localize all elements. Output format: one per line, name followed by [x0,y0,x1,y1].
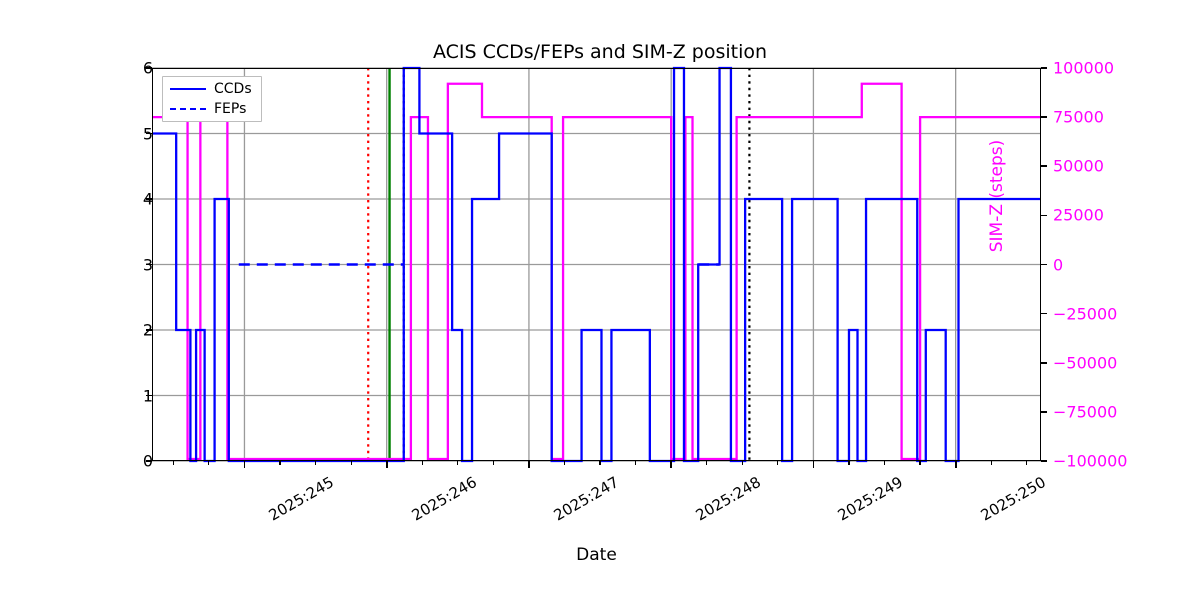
y-tick-right [1041,264,1047,266]
x-tick-minor [564,461,565,465]
y-tick-left [146,133,152,135]
x-tick-minor [279,461,280,465]
x-tick-minor [848,461,849,465]
y-tick-left [146,460,152,462]
x-tick-minor [742,461,743,465]
x-tick-minor [884,461,885,465]
y-tick-left [146,395,152,397]
y-tick-label-right: −75000 [1053,402,1117,421]
x-tick-minor [208,461,209,465]
y-tick-right [1041,460,1047,462]
x-tick-major [244,461,246,468]
x-tick-minor [457,461,458,465]
x-tick-label: 2025:245 [266,473,337,525]
y-tick-label-right: 75000 [1053,108,1104,127]
y-tick-right [1041,362,1047,364]
y-tick-label-right: 0 [1053,255,1063,274]
legend-label-feps: FEPs [214,102,246,116]
legend-item-feps: FEPs [170,102,252,116]
y-tick-right [1041,165,1047,167]
x-tick-minor [422,461,423,465]
legend-label-ccds: CCDs [214,82,252,96]
plot-area: CCDs FEPs [152,68,1041,461]
y-tick-left [146,264,152,266]
x-tick-minor [777,461,778,465]
x-tick-label: 2025:249 [835,473,906,525]
y-tick-label-right: 50000 [1053,157,1104,176]
y-tick-right [1041,313,1047,315]
x-tick-label: 2025:247 [551,473,622,525]
y-tick-label-right: −50000 [1053,353,1117,372]
x-tick-minor [706,461,707,465]
x-axis-label: Date [152,545,1041,565]
chart-root: ACIS CCDs/FEPs and SIM-Z position CCD/FE… [0,0,1200,600]
x-tick-minor [991,461,992,465]
x-tick-label: 2025:250 [977,473,1048,525]
x-tick-major [813,461,815,468]
x-tick-minor [1026,461,1027,465]
y-tick-left [146,198,152,200]
y-tick-right [1041,411,1047,413]
x-tick-major [386,461,388,468]
x-tick-minor [599,461,600,465]
legend-item-ccds: CCDs [170,82,252,96]
y-tick-label-right: −25000 [1053,304,1117,323]
x-tick-minor [635,461,636,465]
plot-frame [152,68,1041,461]
x-tick-minor [315,461,316,465]
y-tick-left [146,67,152,69]
y-tick-left [146,329,152,331]
y-tick-right [1041,116,1047,118]
y-tick-label-right: −100000 [1053,452,1127,471]
x-tick-major [670,461,672,468]
chart-title: ACIS CCDs/FEPs and SIM-Z position [0,41,1200,63]
y-tick-label-right: 25000 [1053,206,1104,225]
y-tick-right [1041,215,1047,217]
x-tick-major [528,461,530,468]
x-tick-label: 2025:246 [408,473,479,525]
x-tick-label: 2025:248 [693,473,764,525]
legend-swatch-ccds-icon [170,88,206,90]
y-tick-right [1041,67,1047,69]
x-tick-major [955,461,957,468]
x-tick-minor [173,461,174,465]
x-tick-minor [351,461,352,465]
x-tick-minor [493,461,494,465]
x-tick-minor [919,461,920,465]
chart-legend[interactable]: CCDs FEPs [162,76,262,122]
legend-swatch-feps-icon [170,108,206,110]
y-tick-label-right: 100000 [1053,59,1114,78]
